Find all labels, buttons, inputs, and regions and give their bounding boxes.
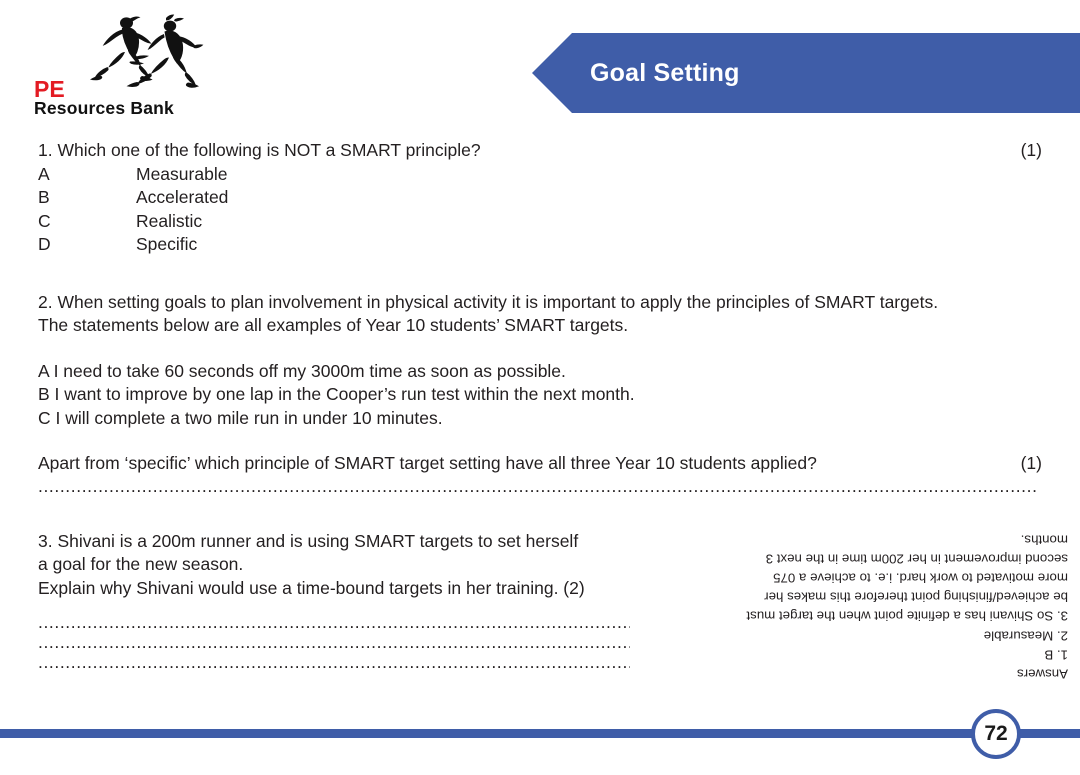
- question-3-row: 3. Shivani is a 200m runner and is using…: [38, 530, 1042, 673]
- spacer: [38, 600, 698, 612]
- option-text: Realistic: [136, 210, 1042, 234]
- answer-line[interactable]: ........................................…: [38, 652, 630, 672]
- option-text: Measurable: [136, 163, 1042, 187]
- spacer: [38, 430, 1042, 452]
- answers-heading: Answers: [738, 664, 1068, 683]
- page-title: Goal Setting: [590, 33, 740, 113]
- question-1-option-a: A Measurable: [38, 163, 1042, 187]
- question-2-intro-line-1: 2. When setting goals to plan involvemen…: [38, 291, 1042, 315]
- worksheet-body: 1. Which one of the following is NOT a S…: [38, 139, 1042, 672]
- question-2-statement-a: A I need to take 60 seconds off my 3000m…: [38, 360, 1042, 384]
- header-banner: Goal Setting: [532, 33, 1080, 113]
- answer-line[interactable]: ........................................…: [38, 612, 630, 632]
- question-1-option-c: C Realistic: [38, 210, 1042, 234]
- question-2-statement-b: B I want to improve by one lap in the Co…: [38, 383, 1042, 407]
- question-3-line-3: Explain why Shivani would use a time-bou…: [38, 577, 698, 601]
- question-1-option-b: B Accelerated: [38, 186, 1042, 210]
- option-letter: A: [38, 163, 136, 187]
- two-runners-icon: [78, 12, 213, 88]
- option-letter: B: [38, 186, 136, 210]
- answer-item-3: 3. So Shivani has a definite point when …: [738, 530, 1068, 626]
- question-2-sub-marks: (1): [1021, 452, 1042, 476]
- spacer: [38, 496, 1042, 530]
- question-3-text: 3. Shivani is a 200m runner and is using…: [38, 530, 698, 673]
- question-1-marks: (1): [1021, 139, 1042, 163]
- footer-bar: [0, 729, 1080, 738]
- worksheet-page: PE Resources Bank Goal Setting 1. Which …: [0, 0, 1080, 775]
- logo-brand-pe: PE: [34, 78, 174, 100]
- answers-box: Answers 1. B 2. Measurable 3. So Shivani…: [738, 530, 1068, 684]
- option-letter: C: [38, 210, 136, 234]
- answer-item-2: 2. Measurable: [738, 626, 1068, 645]
- spacer: [38, 257, 1042, 291]
- answer-line[interactable]: ........................................…: [38, 632, 630, 652]
- answer-line[interactable]: ........................................…: [38, 476, 1038, 496]
- logo-brand-resources-bank: Resources Bank: [34, 100, 174, 118]
- question-2-statement-c: C I will complete a two mile run in unde…: [38, 407, 1042, 431]
- question-2-intro-line-2: The statements below are all examples of…: [38, 314, 1042, 338]
- question-1-text: 1. Which one of the following is NOT a S…: [38, 140, 481, 160]
- logo: PE Resources Bank: [34, 12, 224, 112]
- question-2-sub-prompt: Apart from ‘specific’ which principle of…: [38, 452, 1042, 476]
- question-3-line-1: 3. Shivani is a 200m runner and is using…: [38, 530, 698, 554]
- option-text: Specific: [136, 233, 1042, 257]
- spacer: [38, 338, 1042, 360]
- answer-item-1: 1. B: [738, 645, 1068, 664]
- page-number-badge: 72: [971, 709, 1021, 759]
- option-text: Accelerated: [136, 186, 1042, 210]
- question-3-line-2: a goal for the new season.: [38, 553, 698, 577]
- question-2-sub-text: Apart from ‘specific’ which principle of…: [38, 453, 817, 473]
- question-1-option-d: D Specific: [38, 233, 1042, 257]
- option-letter: D: [38, 233, 136, 257]
- question-1-prompt: 1. Which one of the following is NOT a S…: [38, 139, 1042, 163]
- logo-wordmark: PE Resources Bank: [34, 78, 174, 118]
